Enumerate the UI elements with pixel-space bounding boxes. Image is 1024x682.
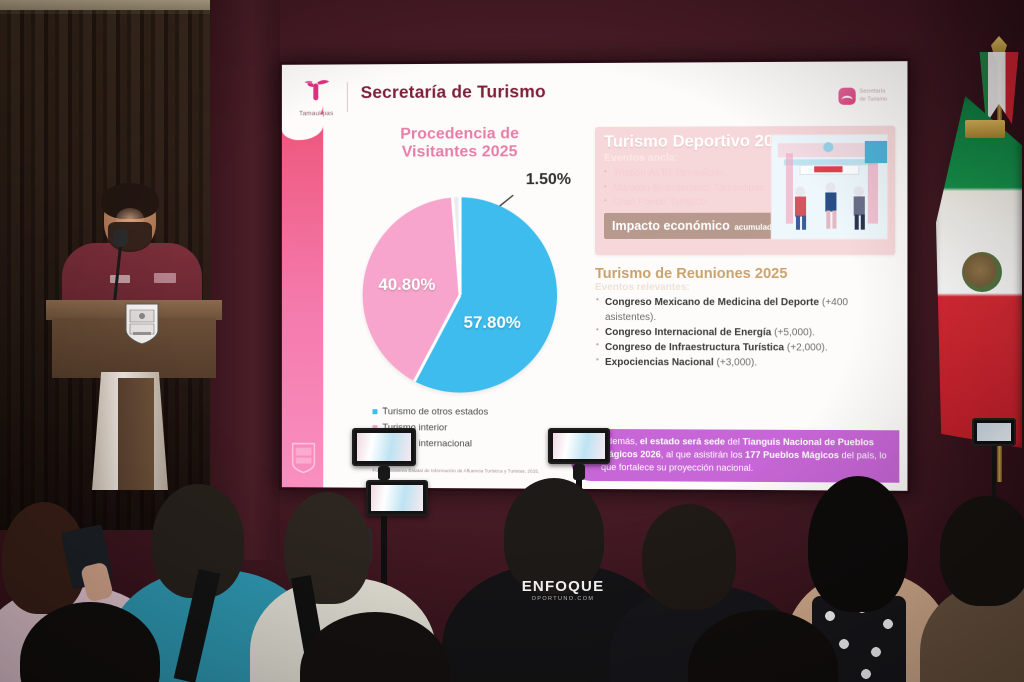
banner-part2: del (725, 436, 742, 446)
pie-divider-grey (459, 197, 461, 295)
phone-screen (977, 423, 1011, 441)
list-item: Congreso Mexicano de Medicina del Deport… (595, 295, 895, 325)
speaker-badge-left (110, 275, 130, 283)
microphone-icon (113, 228, 128, 247)
bottom-banner: Además, el estado será sede del Tianguis… (571, 429, 899, 483)
banner-bold3: 177 Pueblos Mágicos (745, 450, 839, 461)
list-item: Expociencias Nacional (+3,000). (595, 355, 895, 371)
pie-chart: 57.80% 40.80% (363, 197, 557, 393)
chart-panel: Procedencia de Visitantes 2025 1.50% 57.… (337, 125, 583, 475)
shirt-logo: ENFOQUE OPORTUNO.COM (508, 578, 618, 602)
event-name: Expociencias Nacional (605, 357, 714, 368)
flag-tassel (965, 120, 1005, 138)
event-name: Congreso Mexicano de Medicina del Deport… (605, 297, 819, 308)
shirt-brand-subtext: OPORTUNO.COM (508, 596, 618, 602)
reuniones-section: Turismo de Reuniones 2025 Eventos releva… (595, 266, 895, 371)
impact-label: Impacto económico (612, 219, 730, 233)
right-content-column: Turismo Deportivo 2025 Eventos ancla: Tr… (595, 126, 895, 371)
shirt-brand-text: ENFOQUE (508, 578, 618, 595)
sectur-logo-text: Secretaría de Turismo (860, 89, 888, 104)
audience-person-foreground-right (688, 610, 838, 682)
reuniones-title: Turismo de Reuniones 2025 (595, 266, 895, 282)
flag-coat-of-arms-icon (962, 252, 1002, 292)
person-head (300, 612, 450, 682)
person-head (808, 476, 908, 612)
conference-room-scene: Tamaulipas Secretaría de Turismo Secreta… (0, 0, 1024, 682)
person-head (688, 610, 838, 682)
phone-screen (553, 433, 605, 459)
list-item: Congreso Internacional de Energía (+5,00… (595, 325, 895, 341)
tamaulipas-logo: Tamaulipas (294, 78, 339, 117)
event-count: (+2,000). (787, 342, 828, 353)
race-photo-graphic-icon (772, 135, 888, 240)
phone-mount (573, 464, 585, 480)
phone-mount (378, 466, 390, 480)
audience-person-5 (926, 502, 1024, 682)
banner-part3: , al que asistirán los (661, 449, 745, 459)
tamaulipas-mark-icon (294, 78, 339, 104)
event-count: (+5,000). (774, 327, 815, 338)
chart-callout-value: 1.50% (526, 171, 571, 189)
event-name: Congreso Internacional de Energía (605, 327, 771, 338)
recording-phone-upper[interactable] (352, 428, 416, 466)
list-item: Congreso de Infraestructura Turística (+… (595, 340, 895, 356)
sectur-mark-icon (838, 88, 855, 105)
speaker-logo-right (154, 273, 176, 283)
sectur-logo-line1: Secretaría (860, 89, 888, 97)
legend-item: Turismo de otros estados (372, 406, 581, 418)
audience-person-foreground-center (300, 612, 450, 682)
pie-label-pink: 40.80% (378, 275, 435, 295)
person-head (20, 602, 160, 682)
podium-state-seal-icon (124, 302, 160, 346)
pie-label-blue: 57.80% (464, 313, 521, 333)
recording-phone[interactable] (548, 428, 610, 464)
legend-label: Turismo de otros estados (382, 406, 488, 417)
tripod-center-left (352, 428, 416, 466)
legend-swatch-icon (372, 409, 377, 414)
sectur-logo: Secretaría de Turismo (838, 87, 887, 104)
slide-header: Tamaulipas Secretaría de Turismo Secreta… (337, 79, 893, 122)
recording-phone-right (972, 418, 1016, 446)
sectur-logo-line2: de Turismo (860, 96, 888, 104)
person-head (504, 478, 604, 594)
person-head (642, 504, 736, 610)
reuniones-subtitle: Eventos relevantes: (595, 282, 895, 293)
chart-subtitle-line1: Procedencia de (337, 125, 583, 144)
state-seal-icon (291, 442, 317, 474)
banner-bold1: el estado será sede (640, 436, 725, 446)
tamaulipas-logo-label: Tamaulipas (294, 110, 339, 117)
phone-screen (357, 433, 411, 461)
event-name: Congreso de Infraestructura Turística (605, 342, 784, 353)
chart-subtitle-line2: Visitantes 2025 (337, 143, 583, 162)
event-count: (+3,000). (717, 357, 758, 368)
presentation-slide: Tamaulipas Secretaría de Turismo Secreta… (282, 61, 908, 491)
audience-person-foreground-left (20, 602, 160, 682)
header-divider (347, 82, 348, 112)
chart-subtitle: Procedencia de Visitantes 2025 (337, 125, 583, 162)
tripod-center-right (548, 428, 610, 464)
deportivo-card: Turismo Deportivo 2025 Eventos ancla: Tr… (595, 126, 895, 255)
person-head (940, 496, 1024, 606)
reuniones-list: Congreso Mexicano de Medicina del Deport… (595, 295, 895, 371)
race-finish-photo (771, 134, 888, 240)
slide-title: Secretaría de Turismo (361, 81, 546, 103)
